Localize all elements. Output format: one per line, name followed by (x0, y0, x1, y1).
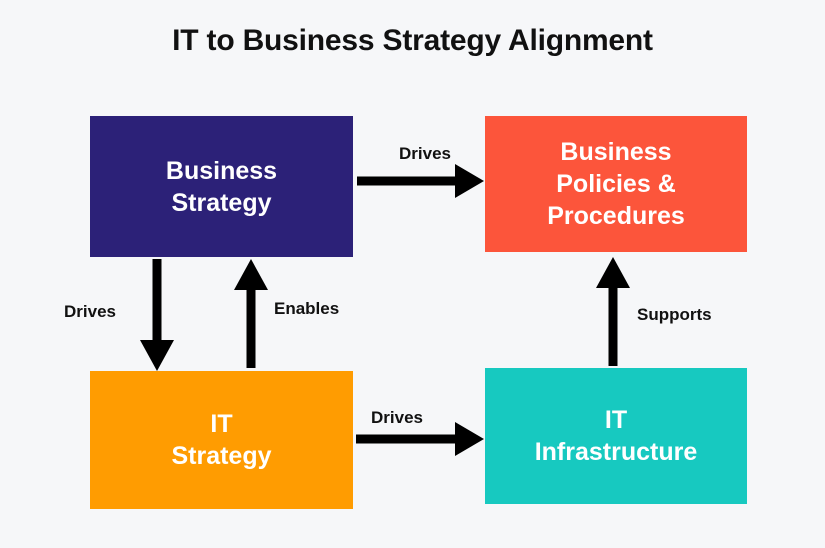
arrow-drives-left (140, 259, 174, 371)
arrow-supports (596, 257, 630, 366)
arrow-drives-top (357, 164, 484, 198)
node-business-policies-label: Business Policies & Procedures (485, 136, 747, 232)
arrow-enables (234, 259, 268, 368)
page-title: IT to Business Strategy Alignment (0, 24, 825, 58)
edge-label-drives-left: Drives (64, 302, 116, 322)
node-it-infrastructure-label: IT Infrastructure (485, 404, 747, 468)
node-it-strategy-label: IT Strategy (90, 408, 353, 472)
edge-label-drives-top: Drives (399, 144, 451, 164)
node-business-strategy[interactable]: Business Strategy (90, 116, 353, 257)
edge-label-drives-bottom: Drives (371, 408, 423, 428)
node-it-infrastructure[interactable]: IT Infrastructure (485, 368, 747, 504)
edge-label-enables: Enables (274, 299, 339, 319)
node-business-policies[interactable]: Business Policies & Procedures (485, 116, 747, 252)
edge-label-supports: Supports (637, 305, 712, 325)
node-business-strategy-label: Business Strategy (90, 155, 353, 219)
node-it-strategy[interactable]: IT Strategy (90, 371, 353, 509)
diagram-canvas: IT to Business Strategy Alignment Busine… (0, 0, 825, 548)
